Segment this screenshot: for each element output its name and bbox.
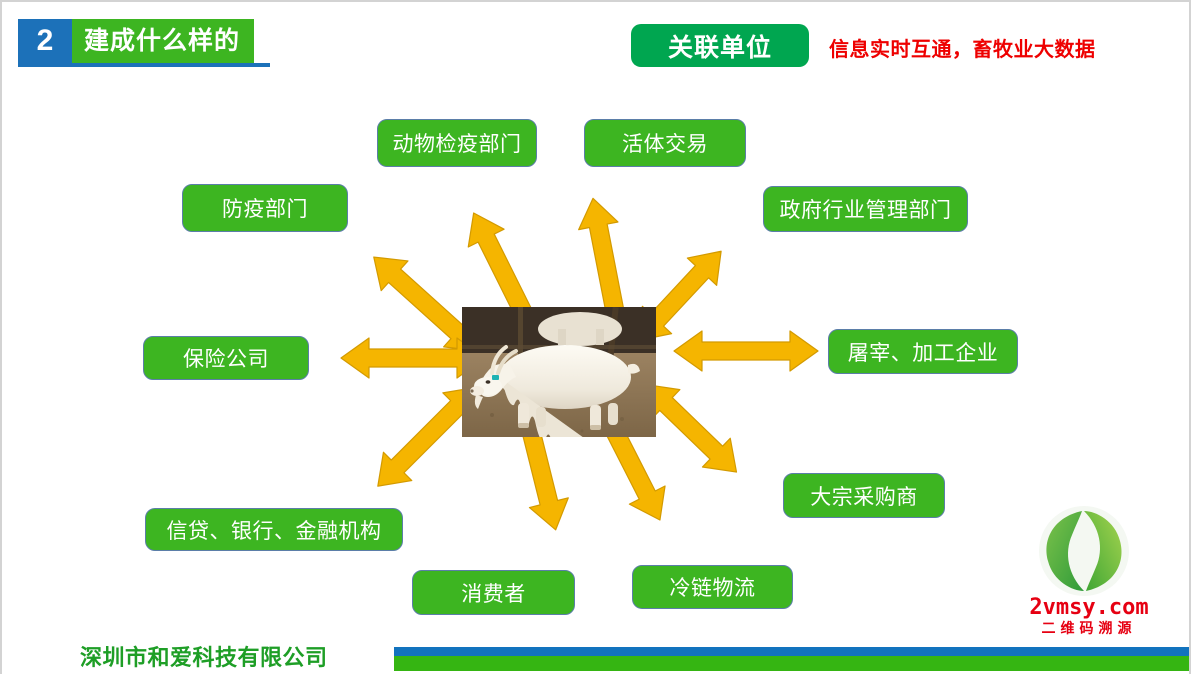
tagline-text: 信息实时互通，畜牧业大数据 xyxy=(829,33,1096,62)
slide-content: 2 建成什么样的 关联单位 信息实时互通，畜牧业大数据 xyxy=(2,2,1189,674)
goat-photo-illustration xyxy=(462,307,656,437)
diagram-node-slaughter-process[interactable]: 屠宰、加工企业 xyxy=(828,329,1018,374)
diagram-node-label: 大宗采购商 xyxy=(810,481,918,511)
diagram-node-animal-quarantine[interactable]: 动物检疫部门 xyxy=(377,119,537,167)
leaf-s-logo-icon xyxy=(1034,505,1134,597)
header-underline xyxy=(18,63,270,67)
footer-bar-blue xyxy=(394,647,1191,656)
arrow-to-slaughter-process xyxy=(674,331,818,371)
logo-subtitle-text: 二维码溯源 xyxy=(1019,621,1159,635)
diagram-node-label: 动物检疫部门 xyxy=(393,128,522,158)
slide-header: 2 建成什么样的 xyxy=(18,19,254,63)
diagram-node-bulk-buyer[interactable]: 大宗采购商 xyxy=(783,473,945,518)
footer-bar-green xyxy=(394,656,1191,671)
diagram-node-credit-bank[interactable]: 信贷、银行、金融机构 xyxy=(145,508,403,551)
diagram-node-live-trade[interactable]: 活体交易 xyxy=(584,119,746,167)
slide-canvas: 2 建成什么样的 关联单位 信息实时互通，畜牧业大数据 xyxy=(0,0,1191,674)
diagram-node-consumer[interactable]: 消费者 xyxy=(412,570,575,615)
logo-url-text: 2vmsy.com xyxy=(1019,597,1159,619)
diagram-node-label: 屠宰、加工企业 xyxy=(848,337,999,367)
diagram-node-insurance[interactable]: 保险公司 xyxy=(143,336,309,380)
diagram-node-label: 信贷、银行、金融机构 xyxy=(167,515,382,545)
diagram-node-label: 冷链物流 xyxy=(670,572,756,602)
status-badge: 关联单位 xyxy=(632,25,808,66)
page-title: 建成什么样的 xyxy=(72,19,254,63)
diagram-node-label: 消费者 xyxy=(461,578,526,608)
diagram-node-label: 防疫部门 xyxy=(222,193,308,223)
diagram-node-gov-industry[interactable]: 政府行业管理部门 xyxy=(763,186,968,232)
footer-company: 深圳市和爱科技有限公司 xyxy=(80,640,328,672)
diagram-node-label: 保险公司 xyxy=(183,343,269,373)
brand-logo[interactable]: 2vmsy.com 二维码溯源 xyxy=(1019,505,1159,640)
diagram-node-label: 政府行业管理部门 xyxy=(780,194,952,224)
goat-photo xyxy=(462,307,656,437)
diagram-node-label: 活体交易 xyxy=(622,128,708,158)
section-number: 2 xyxy=(18,19,72,63)
diagram-node-epidemic-prev[interactable]: 防疫部门 xyxy=(182,184,348,232)
diagram-node-cold-chain[interactable]: 冷链物流 xyxy=(632,565,793,609)
